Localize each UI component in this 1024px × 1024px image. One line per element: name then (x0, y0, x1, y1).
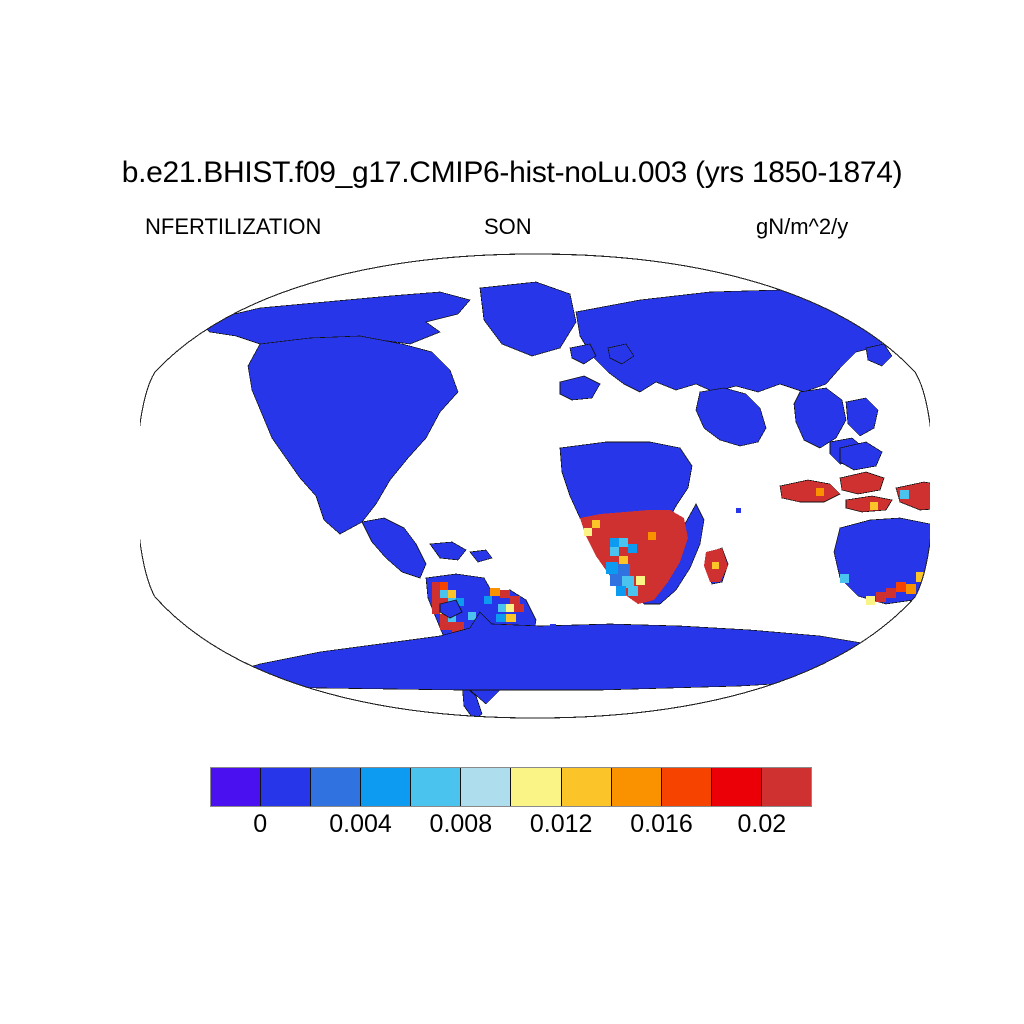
colorbar-tick-label: 0 (253, 810, 267, 839)
region-indonesia (780, 438, 930, 512)
region-north-america (200, 282, 576, 578)
season-label: SON (484, 214, 532, 240)
figure-title: b.e21.BHIST.f09_g17.CMIP6-hist-noLu.003 … (0, 156, 1024, 190)
subtitle-row: NFERTILIZATION SON gN/m^2/y (0, 214, 1024, 242)
colorbar[interactable] (210, 767, 812, 807)
colorbar-segment-5 (461, 768, 511, 806)
colorbar-tick-label: 0.004 (329, 810, 392, 839)
colorbar-segment-9 (662, 768, 712, 806)
colorbar-tick-label: 0.008 (430, 810, 493, 839)
figure-canvas: b.e21.BHIST.f09_g17.CMIP6-hist-noLu.003 … (0, 0, 1024, 1024)
colorbar-tick-label: 0.016 (630, 810, 693, 839)
colorbar-segment-11 (762, 768, 811, 806)
hotspot-southern-africa (580, 510, 728, 604)
map-data-layer (200, 282, 930, 720)
colorbar-segment-0 (211, 768, 261, 806)
colorbar-tick-label: 0.02 (737, 810, 786, 839)
colorbar-segment-1 (261, 768, 311, 806)
colorbar-ticks: 00.0040.0080.0120.0160.02 (210, 810, 812, 844)
world-map (140, 252, 930, 722)
units-label: gN/m^2/y (756, 214, 848, 240)
colorbar-segment-6 (511, 768, 561, 806)
region-eurasia (560, 290, 896, 448)
variable-label: NFERTILIZATION (145, 214, 321, 240)
colorbar-segment-8 (612, 768, 662, 806)
region-australia (834, 518, 930, 624)
colorbar-tick-label: 0.012 (530, 810, 593, 839)
colorbar-segment-2 (311, 768, 361, 806)
region-antarctica (200, 600, 910, 690)
colorbar-segment-10 (712, 768, 762, 806)
colorbar-segment-4 (411, 768, 461, 806)
colorbar-segment-7 (562, 768, 612, 806)
colorbar-segment-3 (361, 768, 411, 806)
